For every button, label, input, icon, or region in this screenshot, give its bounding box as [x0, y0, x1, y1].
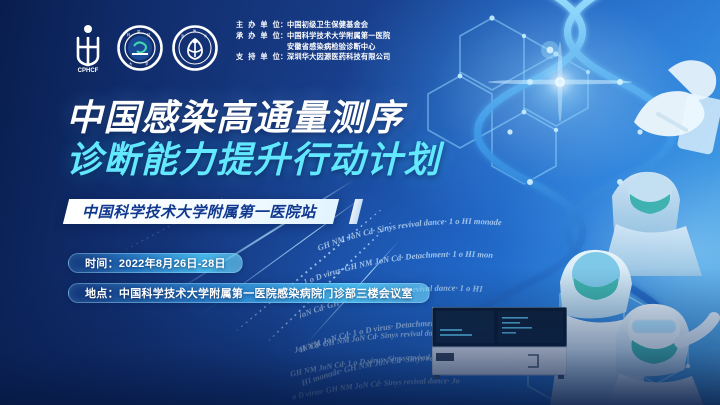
org-value: 中国初级卫生保健基金会 — [287, 21, 368, 29]
header-organizations: CPHCF 科学技 大学 — [68, 18, 390, 74]
svg-text:徽: 徽 — [193, 28, 196, 33]
event-time-pill: 时间：2022年8月26日-28日 — [68, 253, 243, 273]
poster-canvas: GH NM JoN Cd· Sinys revival dance· 1 o H… — [0, 0, 720, 405]
org-colon: ： — [280, 21, 287, 29]
org-line: 支持单位 ： 深圳华大因源医药科技有限公司 — [236, 53, 390, 61]
org-value: 安徽省感染病检验诊断中心 — [287, 43, 376, 51]
org-line: 承办单位 ： 中国科学技术大学附属第一医院 — [236, 32, 390, 40]
org-label: 主办单位 — [236, 21, 280, 29]
ustc-hospital-seal: 科学技 大学 — [117, 25, 163, 71]
title-line-2: 诊断能力提升行动计划 — [66, 138, 441, 182]
cphcf-logo: CPHCF — [68, 22, 108, 74]
svg-text:安: 安 — [181, 33, 184, 38]
svg-text:技: 技 — [147, 32, 151, 37]
organization-list: 主办单位 ： 中国初级卫生保健基金会 承办单位 ： 中国科学技术大学附属第一医院… — [236, 18, 390, 62]
org-line: 主办单位 ： 中国初级卫生保健基金会 — [236, 21, 390, 29]
org-label: 承办单位 — [236, 32, 280, 40]
org-line: 主办单位 ： 安徽省感染病检验诊断中心 — [236, 43, 390, 51]
org-colon: ： — [280, 32, 287, 40]
org-value: 中国科学技术大学附属第一医院 — [287, 32, 390, 40]
event-place-pill: 地点：中国科学技术大学附属第一医院感染病院门诊部三楼会议室 — [68, 283, 430, 303]
svg-text:大: 大 — [129, 61, 133, 66]
subtitle-banner: 中国科学技术大学附属第一医院站 — [63, 199, 339, 224]
logo-group: CPHCF 科学技 大学 — [68, 18, 218, 74]
svg-text:学: 学 — [145, 61, 149, 66]
cphcf-caption: CPHCF — [78, 68, 99, 74]
svg-text:省: 省 — [204, 33, 207, 38]
org-value: 深圳华大因源医药科技有限公司 — [287, 53, 390, 61]
subtitle-text: 中国科学技术大学附属第一医院站 — [82, 201, 316, 222]
anhui-center-seal: 安徽省 — [172, 25, 218, 71]
org-label: 支持单位 — [236, 53, 280, 61]
main-title: 中国感染高通量测序 诊断能力提升行动计划 — [66, 96, 441, 182]
org-colon: ： — [280, 53, 287, 61]
title-line-1: 中国感染高通量测序 — [66, 96, 441, 140]
